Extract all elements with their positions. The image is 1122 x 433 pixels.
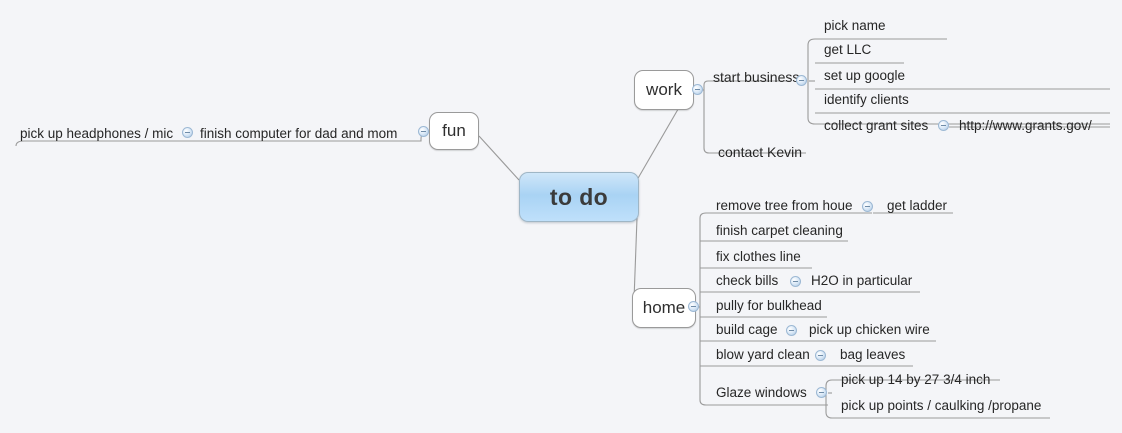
leaf-get-llc[interactable]: get LLC xyxy=(824,42,871,58)
collapse-toggle-finish-computer[interactable] xyxy=(182,127,193,138)
leaf-identify-clients[interactable]: identify clients xyxy=(824,92,909,108)
branch-label-fun: fun xyxy=(442,121,466,141)
leaf-finish-carpet-cleaning[interactable]: finish carpet cleaning xyxy=(716,223,843,239)
leaf-grants-gov-url[interactable]: http://www.grants.gov/ xyxy=(959,118,1092,134)
root-node-to-do[interactable]: to do xyxy=(519,172,639,222)
leaf-remove-tree[interactable]: remove tree from houe xyxy=(716,198,853,214)
leaf-pick-up-headphones[interactable]: pick up headphones / mic xyxy=(20,126,173,142)
collapse-toggle-remove-tree[interactable] xyxy=(862,201,873,212)
leaf-pick-name[interactable]: pick name xyxy=(824,18,886,34)
collapse-toggle-build-cage[interactable] xyxy=(786,325,797,336)
collapse-toggle-home[interactable] xyxy=(688,301,699,312)
leaf-collect-grant-sites[interactable]: collect grant sites xyxy=(824,118,928,134)
branch-node-fun[interactable]: fun xyxy=(429,112,479,150)
collapse-toggle-collect-grant-sites[interactable] xyxy=(938,120,949,131)
leaf-pick-up-chicken-wire[interactable]: pick up chicken wire xyxy=(809,322,930,338)
leaf-blow-yard-clean[interactable]: blow yard clean xyxy=(716,347,810,363)
leaf-set-up-google[interactable]: set up google xyxy=(824,68,905,84)
leaf-pick-up-points-caulking[interactable]: pick up points / caulking /propane xyxy=(841,398,1041,414)
collapse-toggle-check-bills[interactable] xyxy=(790,276,801,287)
leaf-h2o-in-particular[interactable]: H2O in particular xyxy=(811,273,912,289)
leaf-pick-up-14-by-27[interactable]: pick up 14 by 27 3/4 inch xyxy=(841,372,990,388)
leaf-fix-clothes-line[interactable]: fix clothes line xyxy=(716,249,801,265)
collapse-toggle-glaze-windows[interactable] xyxy=(816,387,827,398)
mindmap-canvas[interactable]: to do fun finish computer for dad and mo… xyxy=(0,0,1122,433)
branch-label-home: home xyxy=(643,298,686,318)
leaf-pully-for-bulkhead[interactable]: pully for bulkhead xyxy=(716,298,822,314)
leaf-build-cage[interactable]: build cage xyxy=(716,322,778,338)
leaf-contact-kevin[interactable]: contact Kevin xyxy=(718,144,802,160)
branch-label-work: work xyxy=(646,80,682,100)
root-label: to do xyxy=(550,184,608,211)
collapse-toggle-work[interactable] xyxy=(692,84,703,95)
collapse-toggle-blow-yard-clean[interactable] xyxy=(815,350,826,361)
leaf-start-business[interactable]: start business xyxy=(713,69,799,85)
leaf-get-ladder[interactable]: get ladder xyxy=(887,198,947,214)
collapse-toggle-start-business[interactable] xyxy=(796,75,807,86)
leaf-bag-leaves[interactable]: bag leaves xyxy=(840,347,905,363)
leaf-check-bills[interactable]: check bills xyxy=(716,273,778,289)
leaf-glaze-windows[interactable]: Glaze windows xyxy=(716,385,807,401)
branch-node-home[interactable]: home xyxy=(632,288,696,328)
collapse-toggle-fun[interactable] xyxy=(418,126,429,137)
branch-node-work[interactable]: work xyxy=(634,70,694,110)
leaf-finish-computer[interactable]: finish computer for dad and mom xyxy=(200,126,397,142)
